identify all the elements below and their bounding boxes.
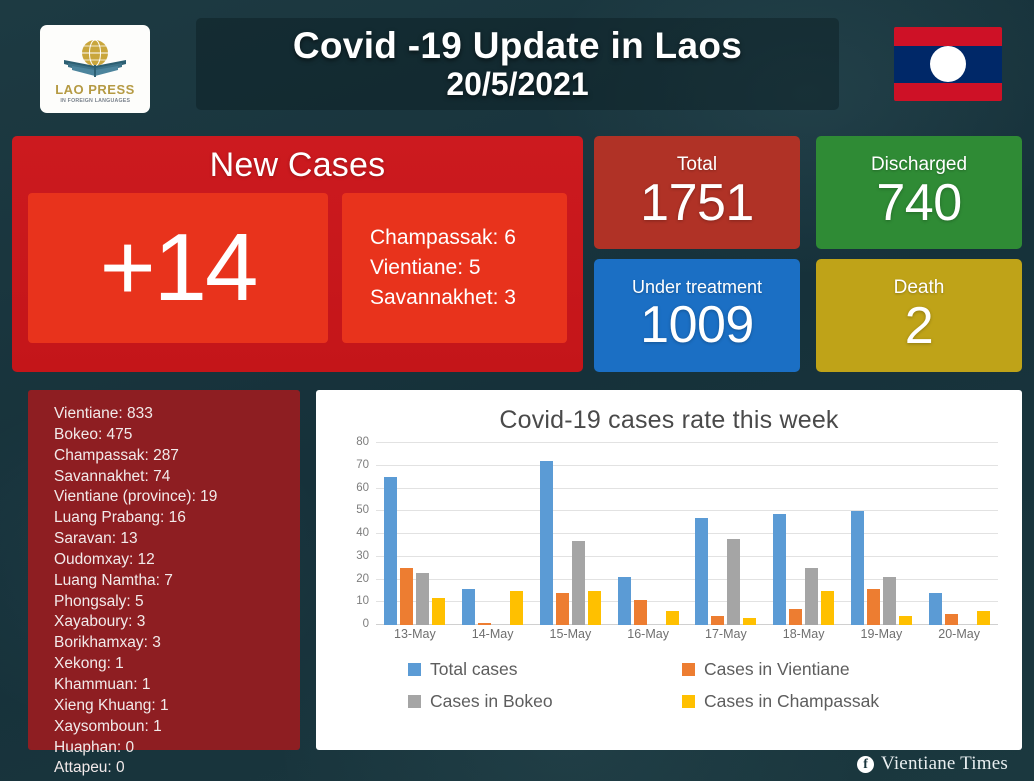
lao-press-logo: LAO PRESS IN FOREIGN LANGUAGES (40, 25, 150, 113)
plot-inner: 01020304050607080 (376, 443, 998, 625)
chart-plot-area: 01020304050607080 13-May14-May15-May16-M… (334, 443, 1008, 647)
bar (899, 616, 912, 625)
bar (416, 573, 429, 625)
stat-discharged: Discharged 740 (816, 136, 1022, 249)
chart-legend: Total casesCases in VientianeCases in Bo… (330, 659, 1008, 712)
x-axis-label: 14-May (454, 627, 532, 647)
globe-book-emblem (58, 38, 132, 82)
bar (789, 609, 802, 625)
y-axis-tick: 0 (363, 618, 369, 630)
bar (695, 518, 708, 625)
province-item: Champassak: 287 (54, 446, 300, 467)
laos-flag-icon (894, 27, 1002, 101)
legend-label: Cases in Bokeo (430, 691, 553, 712)
chart-title: Covid-19 cases rate this week (330, 406, 1008, 435)
province-item: Khammuan: 1 (54, 675, 300, 696)
bar (883, 577, 896, 625)
legend-swatch-icon (408, 663, 421, 676)
province-item: Luang Namtha: 7 (54, 571, 300, 592)
new-cases-title: New Cases (28, 146, 567, 185)
stat-total-value: 1751 (640, 176, 754, 231)
y-axis-tick: 60 (356, 482, 369, 494)
legend-label: Cases in Champassak (704, 691, 879, 712)
new-cases-panel: New Cases +14 Champassak: 6 Vientiane: 5… (12, 136, 583, 372)
x-axis-label: 19-May (843, 627, 921, 647)
breakdown-item: Champassak: 6 (370, 223, 567, 253)
bar (462, 589, 475, 625)
y-axis-tick: 20 (356, 573, 369, 585)
province-case-list: Vientiane: 833Bokeo: 475Champassak: 287S… (28, 390, 300, 750)
bar (634, 600, 647, 625)
stat-total-label: Total (677, 155, 717, 174)
province-item: Saravan: 13 (54, 529, 300, 550)
bar (432, 598, 445, 625)
y-axis-tick: 80 (356, 436, 369, 448)
y-axis-tick: 40 (356, 527, 369, 539)
bar (773, 514, 786, 625)
province-item: Attapeu: 0 (54, 758, 300, 779)
breakdown-item: Vientiane: 5 (370, 253, 567, 283)
header: LAO PRESS IN FOREIGN LANGUAGES Covid -19… (0, 0, 1034, 128)
province-item: Borikhamxay: 3 (54, 633, 300, 654)
bar-group (609, 443, 687, 625)
bar (556, 593, 569, 625)
bar (510, 591, 523, 625)
new-cases-row: +14 Champassak: 6 Vientiane: 5 Savannakh… (28, 193, 567, 343)
stat-death: Death 2 (816, 259, 1022, 372)
bar (867, 589, 880, 625)
bar-group (532, 443, 610, 625)
bar-group (376, 443, 454, 625)
bar-group (920, 443, 998, 625)
stat-death-label: Death (894, 278, 945, 297)
facebook-icon: f (857, 756, 874, 773)
logo-subtitle: IN FOREIGN LANGUAGES (60, 98, 130, 104)
x-axis-label: 15-May (532, 627, 610, 647)
title-plate: Covid -19 Update in Laos 20/5/2021 (196, 18, 839, 110)
province-item: Huaphan: 0 (54, 738, 300, 759)
province-item: Xaysomboun: 1 (54, 717, 300, 738)
y-axis-tick: 70 (356, 459, 369, 471)
legend-label: Total cases (430, 659, 518, 680)
legend-swatch-icon (682, 663, 695, 676)
bar (572, 541, 585, 625)
y-axis-tick: 30 (356, 550, 369, 562)
stat-total: Total 1751 (594, 136, 800, 249)
bar (977, 611, 990, 625)
bar (666, 611, 679, 625)
x-axis-labels: 13-May14-May15-May16-May17-May18-May19-M… (376, 627, 998, 647)
x-axis-label: 16-May (609, 627, 687, 647)
bar-group (454, 443, 532, 625)
legend-label: Cases in Vientiane (704, 659, 850, 680)
page-title: Covid -19 Update in Laos (293, 26, 742, 66)
legend-swatch-icon (682, 695, 695, 708)
bar (851, 511, 864, 625)
province-item: Vientiane (province): 19 (54, 487, 300, 508)
province-item: Savannakhet: 74 (54, 467, 300, 488)
new-cases-breakdown: Champassak: 6 Vientiane: 5 Savannakhet: … (342, 193, 567, 343)
chart-card: Covid-19 cases rate this week 0102030405… (316, 390, 1022, 750)
province-item: Xieng Khuang: 1 (54, 696, 300, 717)
stat-death-value: 2 (905, 299, 933, 354)
legend-item: Cases in Vientiane (682, 659, 956, 680)
bar (384, 477, 397, 625)
bar (821, 591, 834, 625)
breakdown-item: Savannakhet: 3 (370, 283, 567, 313)
province-item: Oudomxay: 12 (54, 550, 300, 571)
stat-under-treatment-label: Under treatment (632, 278, 762, 296)
bar (588, 591, 601, 625)
bar (478, 623, 491, 625)
province-item: Bokeo: 475 (54, 425, 300, 446)
bar (540, 461, 553, 625)
legend-item: Total cases (408, 659, 682, 680)
y-axis-tick: 10 (356, 595, 369, 607)
legend-item: Cases in Champassak (682, 691, 956, 712)
legend-item: Cases in Bokeo (408, 691, 682, 712)
bar (400, 568, 413, 625)
new-cases-value-box: +14 (28, 193, 328, 343)
footer-credit: f Vientiane Times (857, 753, 1008, 775)
infographic-page: LAO PRESS IN FOREIGN LANGUAGES Covid -19… (0, 0, 1034, 781)
logo-name: LAO PRESS (55, 83, 135, 96)
bar-group (843, 443, 921, 625)
flag-white-disc (930, 46, 966, 82)
x-axis-label: 20-May (920, 627, 998, 647)
bar-group (687, 443, 765, 625)
bar (618, 577, 631, 625)
new-cases-value: +14 (100, 220, 257, 316)
province-item: Xekong: 1 (54, 654, 300, 675)
bar-group (765, 443, 843, 625)
stat-under-treatment-value: 1009 (640, 298, 754, 353)
bar (805, 568, 818, 625)
x-axis-label: 18-May (765, 627, 843, 647)
bar (945, 614, 958, 625)
stat-discharged-value: 740 (876, 176, 961, 231)
stat-under-treatment: Under treatment 1009 (594, 259, 800, 372)
bar (743, 618, 756, 625)
stat-discharged-label: Discharged (871, 155, 967, 174)
bar-groups (376, 443, 998, 625)
bar (727, 539, 740, 625)
province-item: Luang Prabang: 16 (54, 508, 300, 529)
legend-swatch-icon (408, 695, 421, 708)
y-axis-tick: 50 (356, 504, 369, 516)
province-item: Phongsaly: 5 (54, 592, 300, 613)
footer-text: Vientiane Times (881, 753, 1008, 775)
bar (929, 593, 942, 625)
province-item: Vientiane: 833 (54, 404, 300, 425)
province-item: Xayaboury: 3 (54, 612, 300, 633)
bar (711, 616, 724, 625)
x-axis-label: 13-May (376, 627, 454, 647)
stats-panel: Total 1751 Discharged 740 Under treatmen… (594, 136, 1022, 372)
page-date: 20/5/2021 (446, 66, 588, 103)
x-axis-label: 17-May (687, 627, 765, 647)
